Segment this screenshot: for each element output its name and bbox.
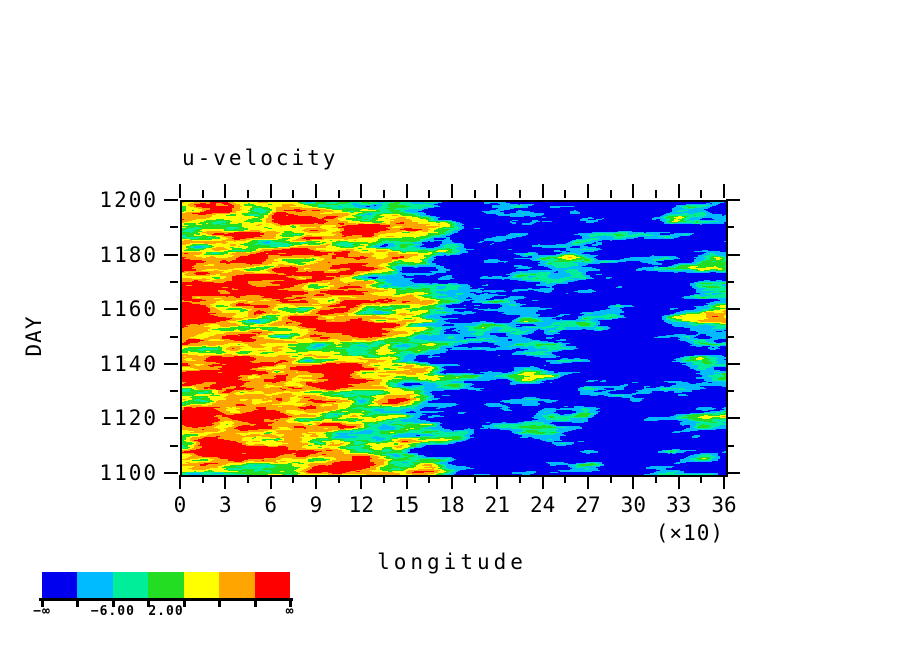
colorbar-tick: [218, 598, 221, 607]
colorbar-label: 2.00: [148, 604, 183, 619]
x-tick-label: 6: [264, 493, 277, 517]
x-tick-minor-bottom: [564, 475, 566, 483]
x-tick-minor-top: [428, 190, 430, 198]
y-tick-major-right: [726, 417, 740, 419]
x-tick-major-top: [632, 184, 634, 198]
x-tick-major: [451, 475, 453, 489]
x-tick-major-top: [224, 184, 226, 198]
heatmap-plot-area: [180, 200, 728, 477]
x-tick-major-top: [315, 184, 317, 198]
x-tick-major: [224, 475, 226, 489]
x-tick-major-top: [179, 184, 181, 198]
y-tick-major-right: [726, 254, 740, 256]
x-tick-major: [496, 475, 498, 489]
x-tick-major: [360, 475, 362, 489]
x-tick-minor-top: [610, 190, 612, 198]
x-tick-label: 33: [666, 493, 691, 517]
x-tick-major: [678, 475, 680, 489]
x-tick-major-top: [270, 184, 272, 198]
y-tick-major-right: [726, 472, 740, 474]
y-tick-major: [164, 472, 178, 474]
y-tick-label: 1200: [99, 188, 158, 212]
y-tick-minor-left: [170, 226, 178, 228]
x-tick-major-top: [496, 184, 498, 198]
y-tick-minor-right: [726, 281, 734, 283]
page-title: u-velocity: [182, 146, 338, 170]
colorbar-tick: [254, 598, 257, 607]
x-tick-label: 30: [621, 493, 646, 517]
y-tick-major: [164, 417, 178, 419]
y-tick-minor-right: [726, 445, 734, 447]
y-tick-minor-right: [726, 390, 734, 392]
x-tick-major: [270, 475, 272, 489]
y-axis-title: DAY: [22, 316, 46, 357]
colorbar-cell-2: [77, 572, 112, 598]
x-tick-major: [315, 475, 317, 489]
colorbar-cell-3: [113, 572, 148, 598]
y-tick-minor-left: [170, 336, 178, 338]
x-tick-major: [723, 475, 725, 489]
x-tick-label: 12: [349, 493, 374, 517]
colorbar: [42, 572, 290, 598]
x-tick-label: 3: [219, 493, 232, 517]
x-tick-minor-top: [519, 190, 521, 198]
y-tick-major: [164, 363, 178, 365]
colorbar-cell-4: [148, 572, 183, 598]
x-tick-label: 24: [530, 493, 555, 517]
y-tick-major: [164, 254, 178, 256]
x-tick-minor-bottom: [519, 475, 521, 483]
x-tick-minor-bottom: [428, 475, 430, 483]
x-tick-minor-bottom: [610, 475, 612, 483]
x-tick-minor-top: [474, 190, 476, 198]
heatmap-canvas: [182, 202, 726, 475]
x-tick-minor-bottom: [474, 475, 476, 483]
x-tick-minor-top: [292, 190, 294, 198]
y-tick-major-right: [726, 363, 740, 365]
x-tick-label: 9: [310, 493, 323, 517]
x-tick-major-top: [542, 184, 544, 198]
x-tick-major: [406, 475, 408, 489]
x-tick-minor-bottom: [655, 475, 657, 483]
x-tick-major-top: [678, 184, 680, 198]
x-tick-major: [632, 475, 634, 489]
colorbar-cell-5: [184, 572, 219, 598]
x-tick-major-top: [587, 184, 589, 198]
y-tick-label: 1180: [99, 243, 158, 267]
x-tick-minor-bottom: [292, 475, 294, 483]
x-tick-minor-top: [655, 190, 657, 198]
colorbar-swatches: [42, 572, 290, 598]
colorbar-label: −∞: [33, 604, 51, 619]
x-tick-minor-top: [700, 190, 702, 198]
x-tick-minor-bottom: [700, 475, 702, 483]
y-tick-label: 1120: [99, 406, 158, 430]
x-tick-minor-top: [202, 190, 204, 198]
colorbar-cell-7: [255, 572, 290, 598]
y-tick-minor-left: [170, 445, 178, 447]
y-tick-label: 1160: [99, 297, 158, 321]
y-tick-label: 1100: [99, 461, 158, 485]
y-tick-label: 1140: [99, 352, 158, 376]
colorbar-cell-6: [219, 572, 254, 598]
x-tick-minor-bottom: [202, 475, 204, 483]
x-tick-minor-top: [247, 190, 249, 198]
x-tick-label: 18: [439, 493, 464, 517]
x-axis-multiplier-label: (×10): [656, 521, 724, 545]
x-tick-label: 0: [174, 493, 187, 517]
x-tick-minor-top: [564, 190, 566, 198]
x-tick-major-top: [451, 184, 453, 198]
x-tick-label: 21: [485, 493, 510, 517]
y-tick-minor-right: [726, 226, 734, 228]
x-tick-major: [179, 475, 181, 489]
y-tick-major: [164, 308, 178, 310]
x-tick-label: 15: [394, 493, 419, 517]
x-tick-minor-bottom: [338, 475, 340, 483]
x-axis-title: longitude: [377, 550, 527, 574]
x-tick-major: [542, 475, 544, 489]
x-tick-minor-top: [383, 190, 385, 198]
y-tick-minor-right: [726, 336, 734, 338]
colorbar-cell-1: [42, 572, 77, 598]
x-tick-major: [587, 475, 589, 489]
x-tick-major-top: [723, 184, 725, 198]
colorbar-label: ∞: [286, 604, 295, 619]
x-tick-label: 36: [711, 493, 736, 517]
x-tick-minor-bottom: [383, 475, 385, 483]
x-tick-major-top: [360, 184, 362, 198]
colorbar-label: −6.00: [91, 604, 135, 619]
y-tick-major-right: [726, 308, 740, 310]
colorbar-tick: [76, 598, 79, 607]
x-tick-minor-top: [338, 190, 340, 198]
y-tick-major-right: [726, 199, 740, 201]
y-tick-minor-left: [170, 390, 178, 392]
y-tick-major: [164, 199, 178, 201]
x-tick-major-top: [406, 184, 408, 198]
chart-figure: u-velocity 0369121518212427303336 110011…: [0, 0, 904, 654]
y-tick-minor-left: [170, 281, 178, 283]
x-tick-minor-bottom: [247, 475, 249, 483]
x-tick-label: 27: [575, 493, 600, 517]
